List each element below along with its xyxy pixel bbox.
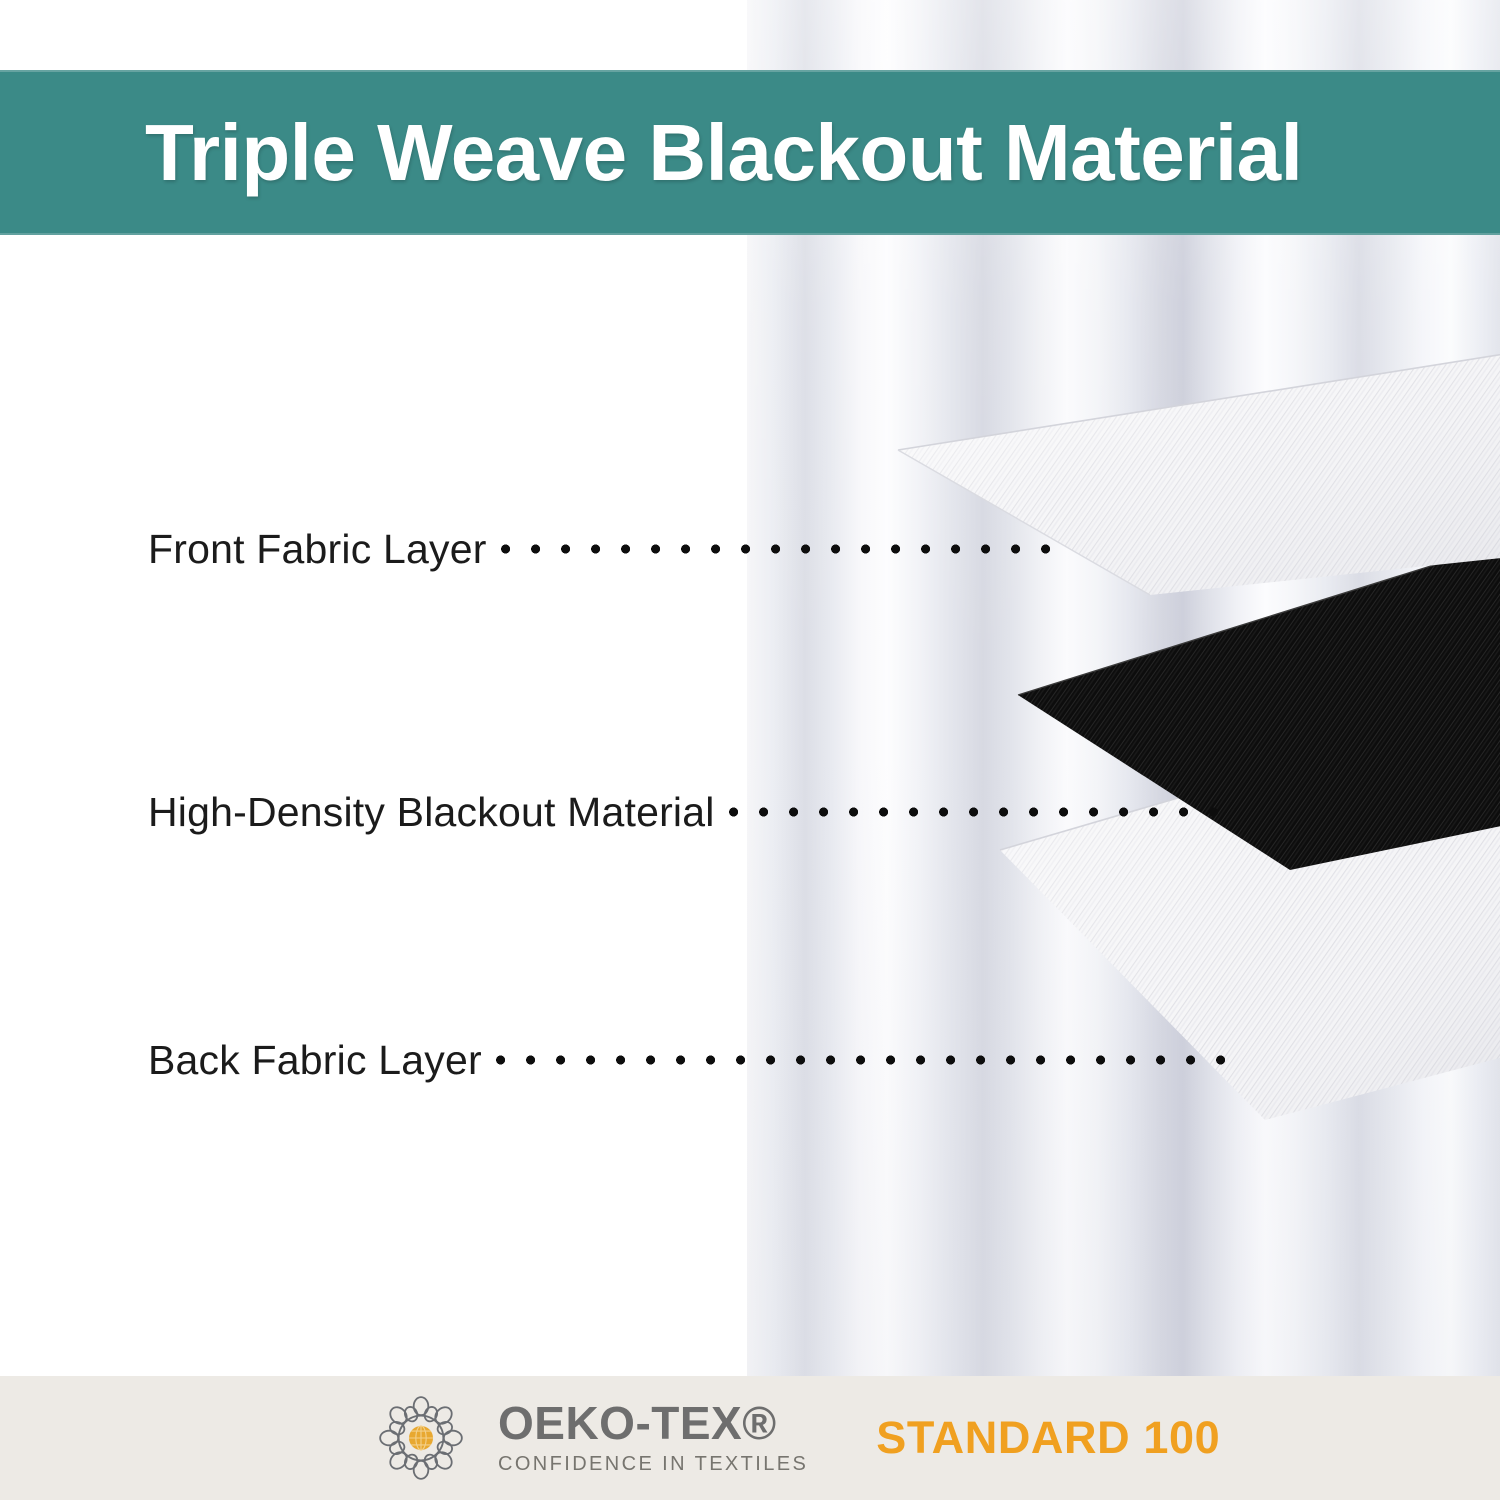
callout-back-fabric-layer: Back Fabric Layer xyxy=(148,1038,1231,1082)
globe-center xyxy=(409,1426,433,1450)
dotted-leader-line xyxy=(729,807,1219,817)
callout-front-fabric-layer: Front Fabric Layer xyxy=(148,527,1053,571)
title-band: Triple Weave Blackout Material xyxy=(0,70,1500,235)
oeko-tex-tagline: CONFIDENCE IN TEXTILES xyxy=(498,1453,808,1476)
callout-high-density-blackout-material: High-Density Blackout Material xyxy=(148,790,1219,834)
dotted-leader-line xyxy=(501,544,1053,554)
page-title: Triple Weave Blackout Material xyxy=(145,107,1302,199)
callout-label: Front Fabric Layer xyxy=(148,529,487,570)
product-infographic: Triple Weave Blackout Material xyxy=(0,0,1500,1500)
oeko-tex-wordmark: OEKO-TEX® CONFIDENCE IN TEXTILES xyxy=(498,1400,808,1476)
callout-label: High-Density Blackout Material xyxy=(148,792,715,833)
oeko-tex-brand: OEKO-TEX® xyxy=(498,1400,808,1447)
certification-band: OEKO-TEX® CONFIDENCE IN TEXTILES STANDAR… xyxy=(0,1376,1500,1500)
oeko-tex-globe-icon xyxy=(378,1395,464,1481)
callout-label: Back Fabric Layer xyxy=(148,1040,482,1081)
dotted-leader-line xyxy=(496,1055,1231,1065)
standard-100-label: STANDARD 100 xyxy=(876,1412,1220,1464)
certification-content: OEKO-TEX® CONFIDENCE IN TEXTILES STANDAR… xyxy=(378,1395,1220,1481)
